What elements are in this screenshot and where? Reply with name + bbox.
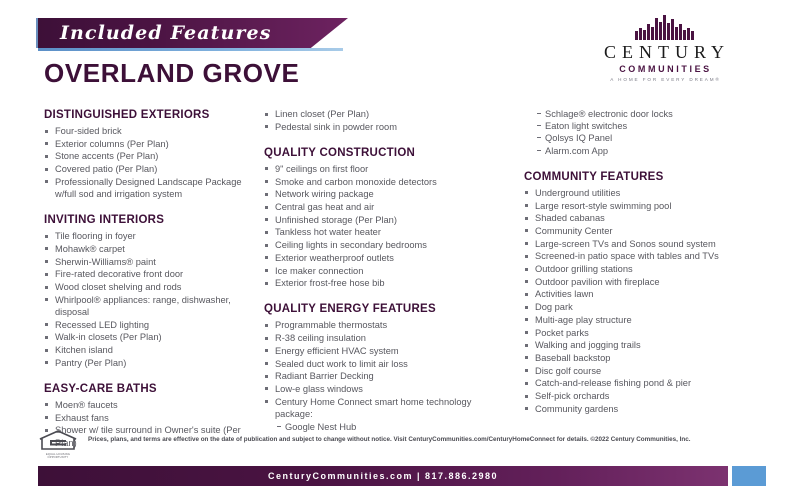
- feature-item: Covered patio (Per Plan): [44, 163, 250, 175]
- bullet-icon: [525, 369, 528, 372]
- feature-item: Pocket parks: [524, 327, 792, 339]
- banner-underline: [38, 48, 343, 51]
- bullet-icon: [265, 193, 268, 196]
- included-features-banner: Included Features: [38, 18, 348, 48]
- feature-item: Outdoor grilling stations: [524, 263, 792, 275]
- bullet-icon: [45, 361, 48, 364]
- bullet-icon: [265, 387, 268, 390]
- bullet-icon: [265, 167, 268, 170]
- page-title: OVERLAND GROVE: [44, 58, 299, 89]
- bullet-icon: [525, 242, 528, 245]
- feature-item: Unfinished storage (Per Plan): [264, 214, 506, 226]
- feature-list: Linen closet (Per Plan)Pedestal sink in …: [264, 108, 506, 133]
- bullet-icon: [265, 349, 268, 352]
- bullet-icon: [45, 416, 48, 419]
- feature-item: Self-pick orchards: [524, 390, 792, 402]
- bullet-icon: [265, 324, 268, 327]
- feature-item: Community Center: [524, 225, 792, 237]
- bullet-icon: [525, 280, 528, 283]
- feature-item: Smoke and carbon monoxide detectors: [264, 176, 506, 188]
- bullet-icon: [525, 344, 528, 347]
- feature-item: Exterior frost-free hose bib: [264, 277, 506, 289]
- feature-item: Exhaust fans: [44, 412, 250, 424]
- bullet-icon: [265, 269, 268, 272]
- features-column-3: Schlage® electronic door locksEaton ligh…: [514, 108, 800, 428]
- bullet-icon: [525, 255, 528, 258]
- feature-item: Disc golf course: [524, 365, 792, 377]
- dash-icon: [277, 426, 281, 427]
- bullet-icon: [265, 218, 268, 221]
- feature-list: 9ʺ ceilings on first floorSmoke and carb…: [264, 163, 506, 290]
- section-title: EASY-CARE BATHS: [44, 382, 250, 396]
- section-title: QUALITY CONSTRUCTION: [264, 146, 506, 160]
- bullet-icon: [45, 168, 48, 171]
- feature-subitem: Qolsys IQ Panel: [537, 132, 792, 144]
- feature-item: Kitchen island: [44, 344, 250, 356]
- feature-item: Whirlpool® appliances: range, dishwasher…: [44, 294, 250, 318]
- bullet-icon: [265, 206, 268, 209]
- bullet-icon: [525, 229, 528, 232]
- feature-item: Dog park: [524, 301, 792, 313]
- bullet-icon: [525, 191, 528, 194]
- feature-item: Four-sided brick: [44, 125, 250, 137]
- feature-item: Catch-and-release fishing pond & pier: [524, 377, 792, 389]
- logo-wordmark: CENTURY: [580, 42, 748, 63]
- footer-bar: CenturyCommunities.com | 817.886.2980: [38, 466, 766, 486]
- century-communities-logo: CENTURY COMMUNITIES A HOME FOR EVERY DRE…: [580, 14, 748, 82]
- dash-icon: [537, 137, 541, 138]
- feature-item: Multi-age play structure: [524, 314, 792, 326]
- feature-list: Programmable thermostatsR-38 ceiling ins…: [264, 319, 506, 420]
- bullet-icon: [525, 268, 528, 271]
- feature-item: Central gas heat and air: [264, 201, 506, 213]
- feature-item: Recessed LED lighting: [44, 319, 250, 331]
- bullet-icon: [525, 331, 528, 334]
- feature-item: Low-e glass windows: [264, 383, 506, 395]
- feature-item: 9ʺ ceilings on first floor: [264, 163, 506, 175]
- bullet-icon: [265, 180, 268, 183]
- feature-item: Large resort-style swimming pool: [524, 200, 792, 212]
- footer-accent-block: [732, 466, 766, 486]
- bullet-icon: [525, 217, 528, 220]
- bullet-icon: [265, 337, 268, 340]
- feature-list: Four-sided brickExterior columns (Per Pl…: [44, 125, 250, 200]
- bullet-icon: [45, 336, 48, 339]
- feature-subitem: Eaton light switches: [537, 120, 792, 132]
- bullet-icon: [525, 382, 528, 385]
- features-column-1: DISTINGUISHED EXTERIORS Four-sided brick…: [0, 108, 258, 428]
- bullet-icon: [45, 403, 48, 406]
- feature-item: Exterior weatherproof outlets: [264, 252, 506, 264]
- feature-item: Professionally Designed Landscape Packag…: [44, 176, 250, 200]
- feature-list: Underground utilitiesLarge resort-style …: [524, 187, 792, 415]
- section-title: COMMUNITY FEATURES: [524, 170, 792, 184]
- eho-label: EQUAL HOUSING OPPORTUNITY: [38, 453, 78, 460]
- bullet-icon: [525, 318, 528, 321]
- features-columns: DISTINGUISHED EXTERIORS Four-sided brick…: [0, 108, 800, 428]
- bullet-icon: [265, 400, 268, 403]
- bullet-icon: [265, 375, 268, 378]
- disclaimer-text: Prices, plans, and terms are effective o…: [88, 430, 691, 445]
- feature-item: Fire-rated decorative front door: [44, 268, 250, 280]
- dash-icon: [537, 125, 541, 126]
- bullet-icon: [45, 298, 48, 301]
- section-title: INVITING INTERIORS: [44, 213, 250, 227]
- bullet-icon: [45, 155, 48, 158]
- section-title: QUALITY ENERGY FEATURES: [264, 302, 506, 316]
- footer-contact-text: CenturyCommunities.com | 817.886.2980: [38, 466, 728, 486]
- feature-sublist: Schlage® electronic door locksEaton ligh…: [524, 108, 792, 157]
- bullet-icon: [265, 113, 268, 116]
- bullet-icon: [45, 247, 48, 250]
- logo-subtitle: COMMUNITIES: [580, 64, 748, 74]
- feature-item: Underground utilities: [524, 187, 792, 199]
- bullet-icon: [265, 231, 268, 234]
- feature-item: Large-screen TVs and Sonos sound system: [524, 238, 792, 250]
- feature-item: Energy efficient HVAC system: [264, 345, 506, 357]
- feature-item: Radiant Barrier Decking: [264, 370, 506, 382]
- bullet-icon: [45, 142, 48, 145]
- feature-item: Activities lawn: [524, 288, 792, 300]
- bullet-icon: [525, 356, 528, 359]
- feature-item: Ceiling lights in secondary bedrooms: [264, 239, 506, 251]
- feature-item: Stone accents (Per Plan): [44, 150, 250, 162]
- footer-note-row: EQUAL HOUSING OPPORTUNITY Prices, plans,…: [38, 430, 768, 460]
- page-header: Included Features OVERLAND GROVE CENTURY…: [0, 0, 800, 100]
- eho-glyph: [38, 430, 78, 452]
- equal-housing-opportunity-icon: EQUAL HOUSING OPPORTUNITY: [38, 430, 78, 460]
- feature-item: Pantry (Per Plan): [44, 357, 250, 369]
- feature-item: Mohawk® carpet: [44, 243, 250, 255]
- bullet-icon: [45, 286, 48, 289]
- feature-item: Pedestal sink in powder room: [264, 121, 506, 133]
- bullet-icon: [45, 180, 48, 183]
- feature-item: Walk-in closets (Per Plan): [44, 331, 250, 343]
- bullet-icon: [45, 349, 48, 352]
- bullet-icon: [525, 407, 528, 410]
- bullet-icon: [265, 282, 268, 285]
- dash-icon: [537, 113, 541, 114]
- feature-item: Moen® faucets: [44, 399, 250, 411]
- feature-item: Baseball backstop: [524, 352, 792, 364]
- bullet-icon: [525, 293, 528, 296]
- dash-icon: [537, 150, 541, 151]
- bullet-icon: [525, 395, 528, 398]
- bullet-icon: [45, 273, 48, 276]
- bullet-icon: [265, 125, 268, 128]
- section-title: DISTINGUISHED EXTERIORS: [44, 108, 250, 122]
- bullet-icon: [525, 204, 528, 207]
- skyline-icon: [580, 14, 748, 40]
- feature-item: Tile flooring in foyer: [44, 230, 250, 242]
- bullet-icon: [45, 130, 48, 133]
- logo-tagline: A HOME FOR EVERY DREAM®: [580, 77, 748, 82]
- feature-item: Shaded cabanas: [524, 212, 792, 224]
- feature-item: Century Home Connect smart home technolo…: [264, 396, 506, 420]
- bullet-icon: [45, 235, 48, 238]
- bullet-icon: [265, 362, 268, 365]
- feature-item: Network wiring package: [264, 188, 506, 200]
- feature-list: Tile flooring in foyerMohawk® carpetSher…: [44, 230, 250, 369]
- bullet-icon: [45, 323, 48, 326]
- feature-item: Exterior columns (Per Plan): [44, 138, 250, 150]
- feature-item: Tankless hot water heater: [264, 226, 506, 238]
- features-column-2: Linen closet (Per Plan)Pedestal sink in …: [258, 108, 514, 428]
- feature-item: Wood closet shelving and rods: [44, 281, 250, 293]
- bullet-icon: [265, 244, 268, 247]
- feature-item: Walking and jogging trails: [524, 339, 792, 351]
- feature-item: Programmable thermostats: [264, 319, 506, 331]
- feature-item: Community gardens: [524, 403, 792, 415]
- feature-item: Sealed duct work to limit air loss: [264, 358, 506, 370]
- feature-item: Outdoor pavilion with fireplace: [524, 276, 792, 288]
- banner-title: Included Features: [60, 22, 272, 44]
- feature-subitem: Alarm.com App: [537, 145, 792, 157]
- bullet-icon: [265, 256, 268, 259]
- feature-item: Screened-in patio space with tables and …: [524, 250, 792, 262]
- feature-item: Linen closet (Per Plan): [264, 108, 506, 120]
- bullet-icon: [525, 306, 528, 309]
- feature-item: Ice maker connection: [264, 265, 506, 277]
- feature-subitem: Schlage® electronic door locks: [537, 108, 792, 120]
- feature-item: R-38 ceiling insulation: [264, 332, 506, 344]
- feature-item: Sherwin-Williams® paint: [44, 256, 250, 268]
- bullet-icon: [45, 260, 48, 263]
